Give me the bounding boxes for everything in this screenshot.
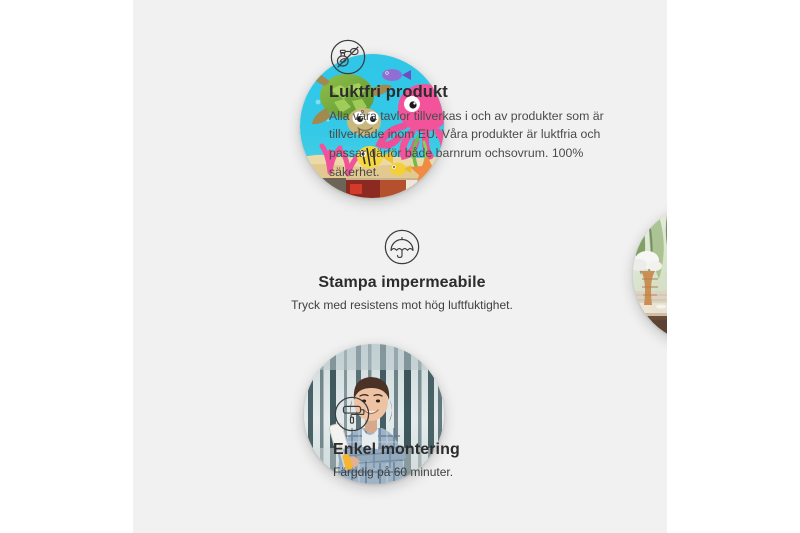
- infographic-canvas: Cartoon underwater scene with a green se…: [0, 0, 800, 533]
- feature-description: Färgdig på 60 minuter.: [333, 463, 563, 481]
- paint-roller-icon: [333, 395, 371, 433]
- no-odour-spray-bottle-icon: [329, 38, 367, 76]
- feature-easy-installation: Enkel montering Färgdig på 60 minuter.: [333, 395, 563, 481]
- feature-description: Tryck med resistens mot hög luftfuktighe…: [221, 296, 583, 314]
- photo-1-alt: Cartoon underwater scene with a green se…: [300, 54, 301, 55]
- feature-description: Alla våra tavlor tillverkas i och av pro…: [329, 107, 626, 182]
- bathroom-tropical-wallpaper-photo: Bathroom with green tropical leaf wallpa…: [633, 205, 667, 343]
- photo-3-alt: Smiling woman in plaid shirt holding a p…: [304, 344, 305, 345]
- feature-title: Stampa impermeabile: [221, 273, 583, 292]
- feature-title: Enkel montering: [333, 440, 563, 459]
- photo-2-alt: Bathroom with green tropical leaf wallpa…: [633, 205, 634, 206]
- feature-waterproof-print: Stampa impermeabile Tryck med resistens …: [221, 228, 583, 314]
- content-panel: Cartoon underwater scene with a green se…: [133, 0, 667, 533]
- umbrella-icon: [383, 228, 421, 266]
- feature-title: Luktfri produkt: [329, 83, 626, 103]
- feature-odour-free: Luktfri produkt Alla våra tavlor tillver…: [329, 38, 626, 182]
